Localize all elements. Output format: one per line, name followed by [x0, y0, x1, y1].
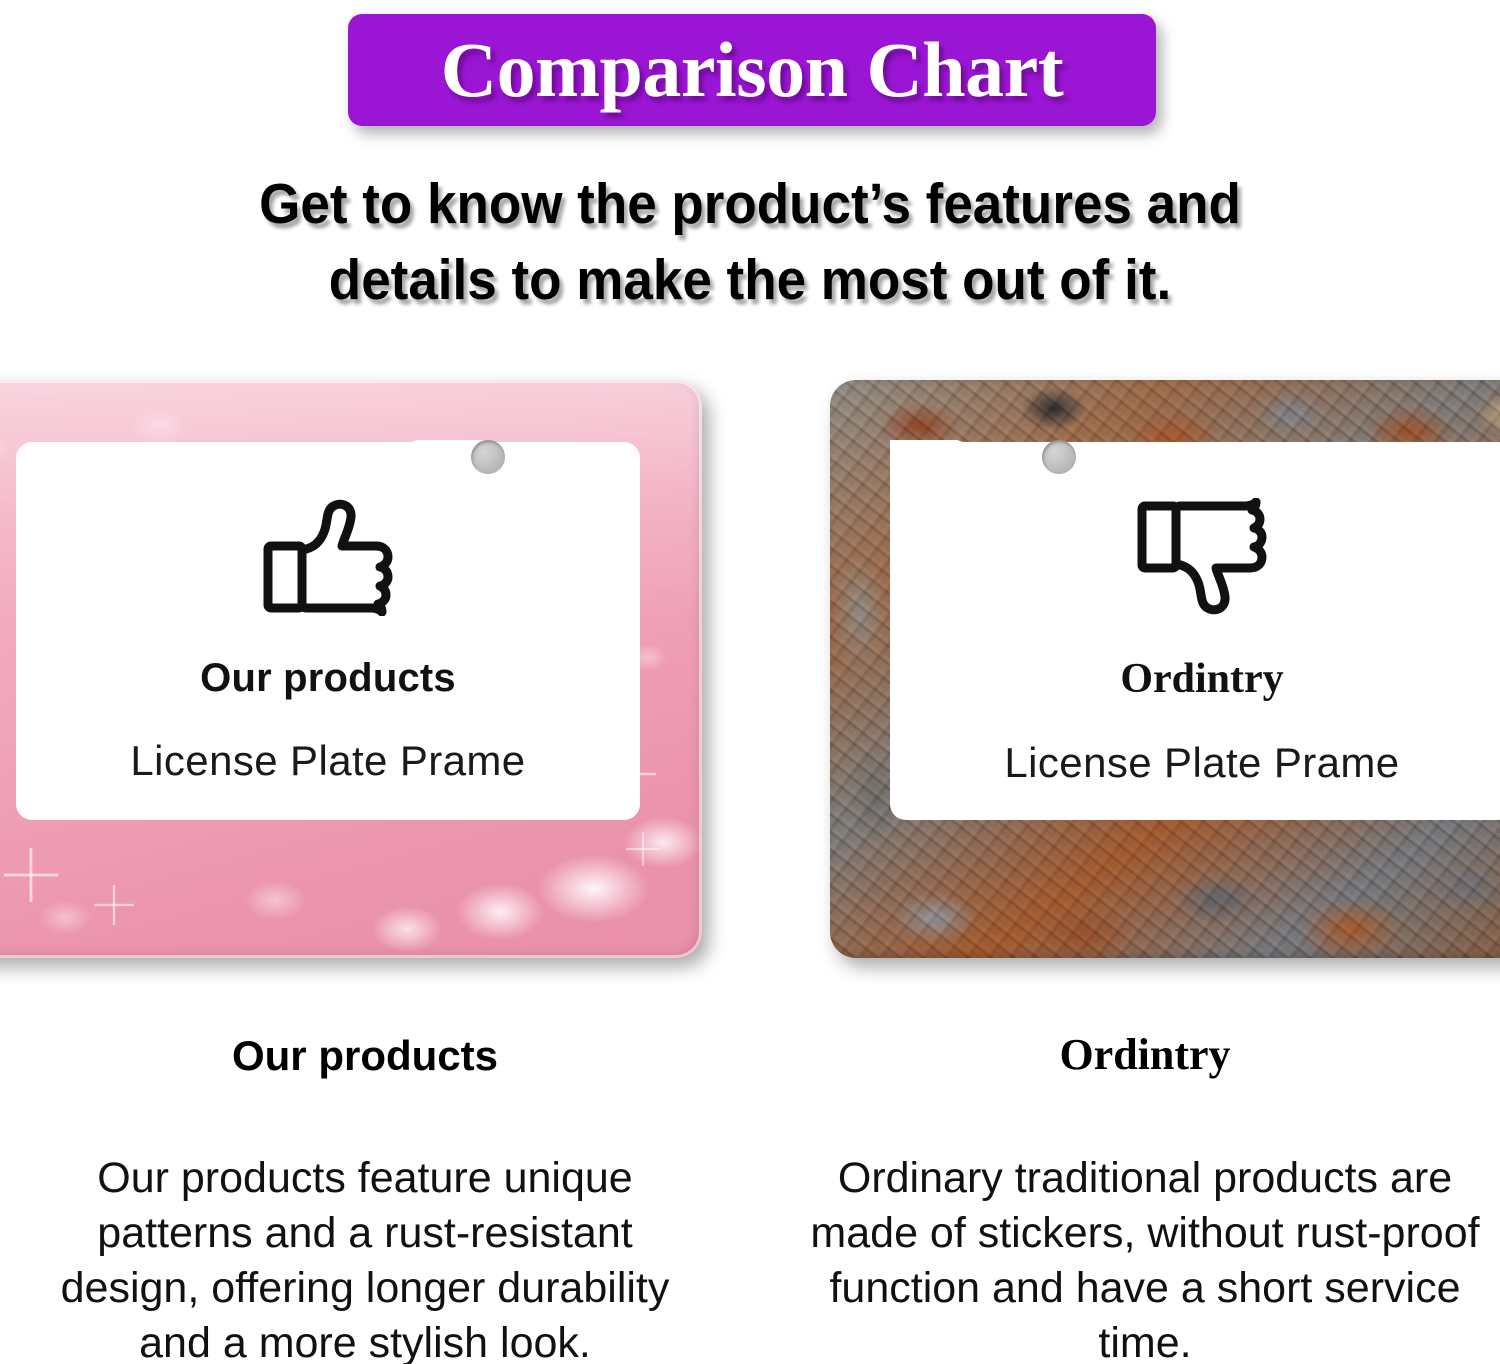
subtitle: Get to know the product’s features and d…	[53, 166, 1448, 318]
subtitle-line-1: Get to know the product’s features and	[53, 166, 1448, 242]
page-title: Comparison Chart	[441, 31, 1064, 109]
sparkle-icon	[626, 832, 660, 866]
pink-frame-content: Our products License Plate Prame	[16, 498, 640, 784]
product-subheading: License Plate Prame	[890, 740, 1500, 786]
column-title: Our products	[20, 1033, 710, 1079]
comparison-columns: Our products Our products feature unique…	[0, 1015, 1500, 1364]
product-subheading: License Plate Prame	[16, 738, 640, 784]
column-body-text: Ordinary traditional products are made o…	[800, 1151, 1490, 1364]
comparison-column-our-products: Our products Our products feature unique…	[20, 1015, 710, 1364]
sparkle-icon	[94, 885, 134, 925]
product-heading: Our products	[16, 656, 640, 700]
title-banner: Comparison Chart	[348, 14, 1156, 126]
comparison-column-ordintry: Ordintry Ordinary traditional products a…	[800, 1015, 1490, 1364]
rust-frame-content: Ordintry License Plate Prame	[890, 498, 1500, 786]
comparison-chart-page: Comparison Chart Get to know the product…	[0, 0, 1500, 1364]
product-frame-ordintry: Ordintry License Plate Prame	[830, 380, 1500, 958]
column-title: Ordintry	[800, 1031, 1490, 1079]
subtitle-line-2: details to make the most out of it.	[53, 242, 1448, 318]
screw-hole-icon	[1042, 440, 1076, 474]
screw-hole-icon	[471, 440, 505, 474]
product-heading: Ordintry	[890, 656, 1500, 702]
product-frame-our-products: Our products License Plate Prame	[0, 380, 702, 958]
product-frames-area: Our products License Plate Prame Ordint	[0, 360, 1500, 980]
sparkle-icon	[4, 848, 58, 902]
thumbs-down-icon	[1136, 498, 1268, 616]
column-body-text: Our products feature unique patterns and…	[20, 1151, 710, 1364]
thumbs-up-icon	[262, 498, 394, 616]
